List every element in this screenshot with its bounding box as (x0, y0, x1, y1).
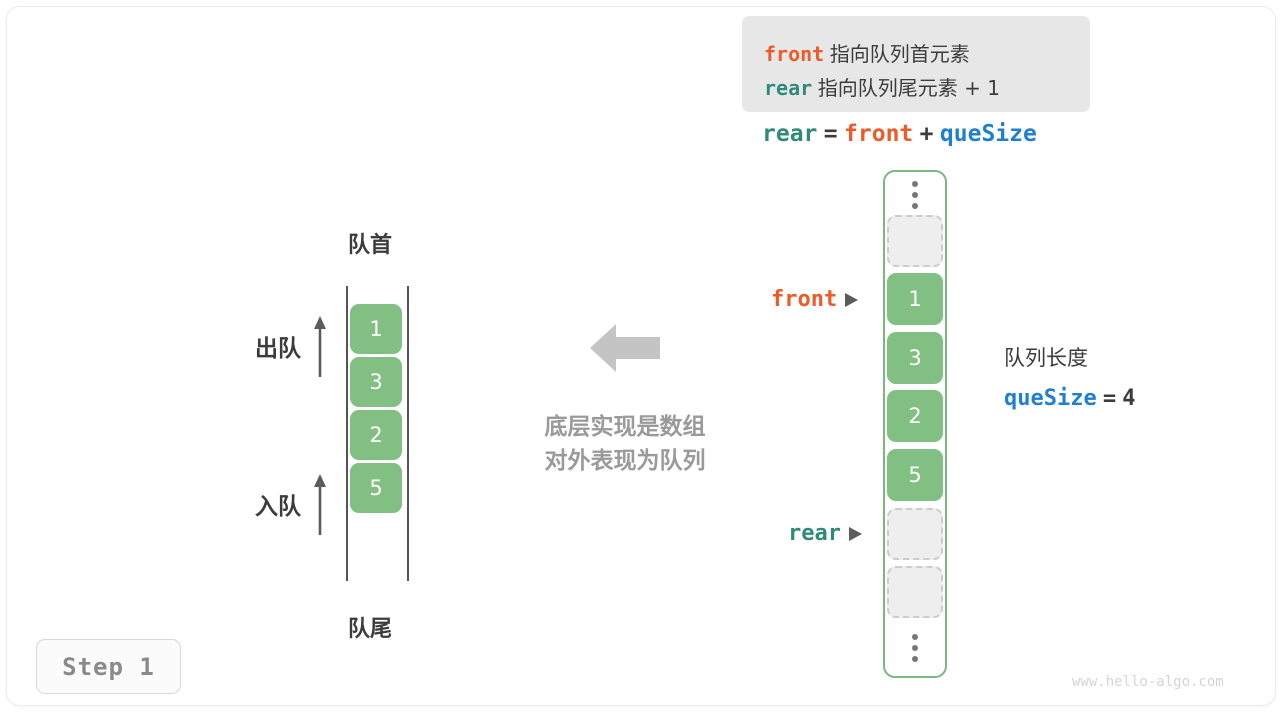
formula-quesize: queSize (940, 121, 1037, 147)
queue-size-label: 队列长度 (1004, 340, 1135, 376)
front-pointer-arrow-icon (845, 293, 858, 307)
array-slot-filled: 2 (887, 390, 943, 442)
array-slot-empty (887, 508, 943, 560)
front-keyword: front (764, 42, 824, 66)
queue-size-expression: queSize = 4 (1004, 380, 1135, 417)
queue-rail-right (407, 286, 409, 581)
formula-rear: rear (762, 121, 817, 147)
queue-rail-left (346, 286, 348, 581)
center-caption: 底层实现是数组 对外表现为队列 (527, 410, 723, 478)
queue-element: 5 (350, 463, 402, 513)
front-definition-line: front 指向队列首元素 (764, 42, 970, 67)
front-definition-text: 指向队列首元素 (830, 42, 970, 66)
array-slot-empty (887, 215, 943, 267)
enqueue-arrow-up-icon (313, 473, 327, 535)
queue-tail-label: 队尾 (348, 611, 392, 643)
queue-element: 2 (350, 410, 402, 460)
queue-size-annotation: 队列长度 queSize = 4 (1004, 340, 1135, 417)
queue-element: 3 (350, 357, 402, 407)
front-pointer: front (771, 287, 858, 312)
rear-keyword: rear (764, 76, 812, 100)
pointer-definition-box: front 指向队列首元素 rear 指向队列尾元素 + 1 (742, 16, 1090, 112)
array-slot-filled: 5 (887, 449, 943, 501)
dequeue-label: 出队 (255, 329, 301, 363)
quesize-value: 4 (1122, 386, 1135, 411)
rear-definition-text: 指向队列尾元素 + 1 (818, 76, 1000, 100)
formula-plus: + (920, 121, 934, 147)
left-arrow-icon (590, 320, 660, 376)
quesize-equals: = (1103, 386, 1116, 411)
queue-element: 1 (350, 304, 402, 354)
rear-pointer: rear (788, 521, 862, 546)
rear-pointer-arrow-icon (849, 527, 862, 541)
caption-line-2: 对外表现为队列 (527, 444, 723, 478)
dequeue-arrow-up-icon (313, 315, 327, 377)
queue-head-label: 队首 (348, 227, 392, 259)
dequeue-indicator: 出队 (255, 315, 327, 377)
array-slot-filled: 3 (887, 332, 943, 384)
array-bottom-ellipsis-icon (908, 634, 922, 662)
figure-canvas: front 指向队列首元素 rear 指向队列尾元素 + 1 rear = fr… (0, 0, 1280, 720)
front-pointer-label: front (771, 287, 837, 312)
rear-definition-line: rear 指向队列尾元素 + 1 (764, 76, 1000, 101)
array-top-ellipsis-icon (908, 181, 922, 209)
array-slot-empty (887, 566, 943, 618)
caption-line-1: 底层实现是数组 (527, 410, 723, 444)
quesize-keyword: queSize (1004, 386, 1097, 411)
rear-pointer-label: rear (788, 521, 841, 546)
enqueue-label: 入队 (255, 487, 301, 521)
array-slot-filled: 1 (887, 273, 943, 325)
watermark: www.hello-algo.com (1072, 674, 1224, 690)
rear-formula: rear = front + queSize (762, 118, 1037, 149)
formula-equals: = (824, 121, 838, 147)
enqueue-indicator: 入队 (255, 473, 327, 535)
formula-front: front (844, 121, 913, 147)
step-badge: Step 1 (36, 639, 181, 694)
